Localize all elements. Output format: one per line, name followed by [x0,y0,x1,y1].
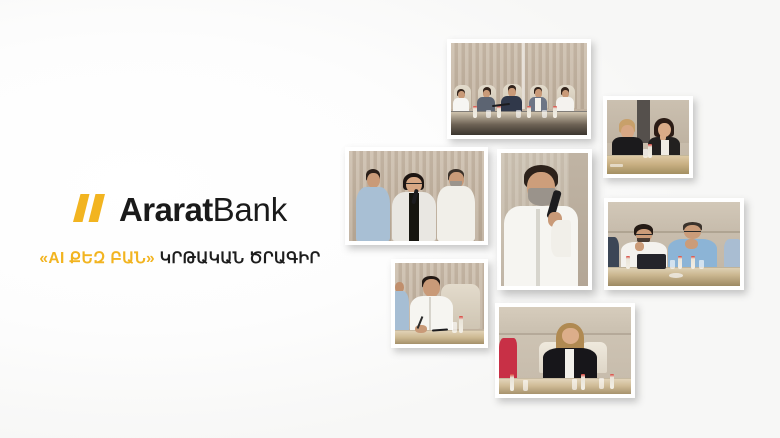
logo-lockup: AraratBank [0,186,360,230]
tagline-dark-part: ԿՐԹԱԿԱՆ ԾՐԱԳԻՐ [160,250,321,267]
photo-woman-in-black-blazer-image [499,307,631,394]
photo-two-men-with-laptop [604,198,744,290]
program-tagline: «AI ՔԵԶ ԲԱՆ» ԿՐԹԱԿԱՆ ԾՐԱԳԻՐ [0,249,360,268]
araratbank-wordmark: AraratBank [119,193,287,226]
photo-two-women-listening-image [607,100,689,174]
wordmark-bold-part: Ararat [119,191,213,228]
photo-panel-five-men-image [451,43,587,135]
araratbank-promo-banner: AraratBank «AI ՔԵԶ ԲԱՆ» ԿՐԹԱԿԱՆ ԾՐԱԳԻՐ [0,0,780,438]
photo-woman-in-black-blazer-speaking [495,303,635,398]
photo-man-taking-notes-image [395,263,484,344]
photo-woman-with-microphone-image [349,151,484,241]
photo-man-taking-notes [391,259,488,348]
araratbank-double-chevron-logo-icon [73,194,110,222]
photo-two-men-with-laptop-image [608,202,740,286]
photo-bearded-man-speaking-image [501,153,588,286]
photo-two-women-listening [603,96,693,178]
photo-bearded-man-speaking [497,149,592,290]
brand-block: AraratBank «AI ՔԵԶ ԲԱՆ» ԿՐԹԱԿԱՆ ԾՐԱԳԻՐ [0,186,360,268]
wordmark-light-part: Bank [213,191,287,228]
photo-panel-five-men [447,39,591,139]
photo-woman-with-microphone-standing [345,147,488,245]
tagline-accent-part: «AI ՔԵԶ ԲԱՆ» [39,250,155,267]
